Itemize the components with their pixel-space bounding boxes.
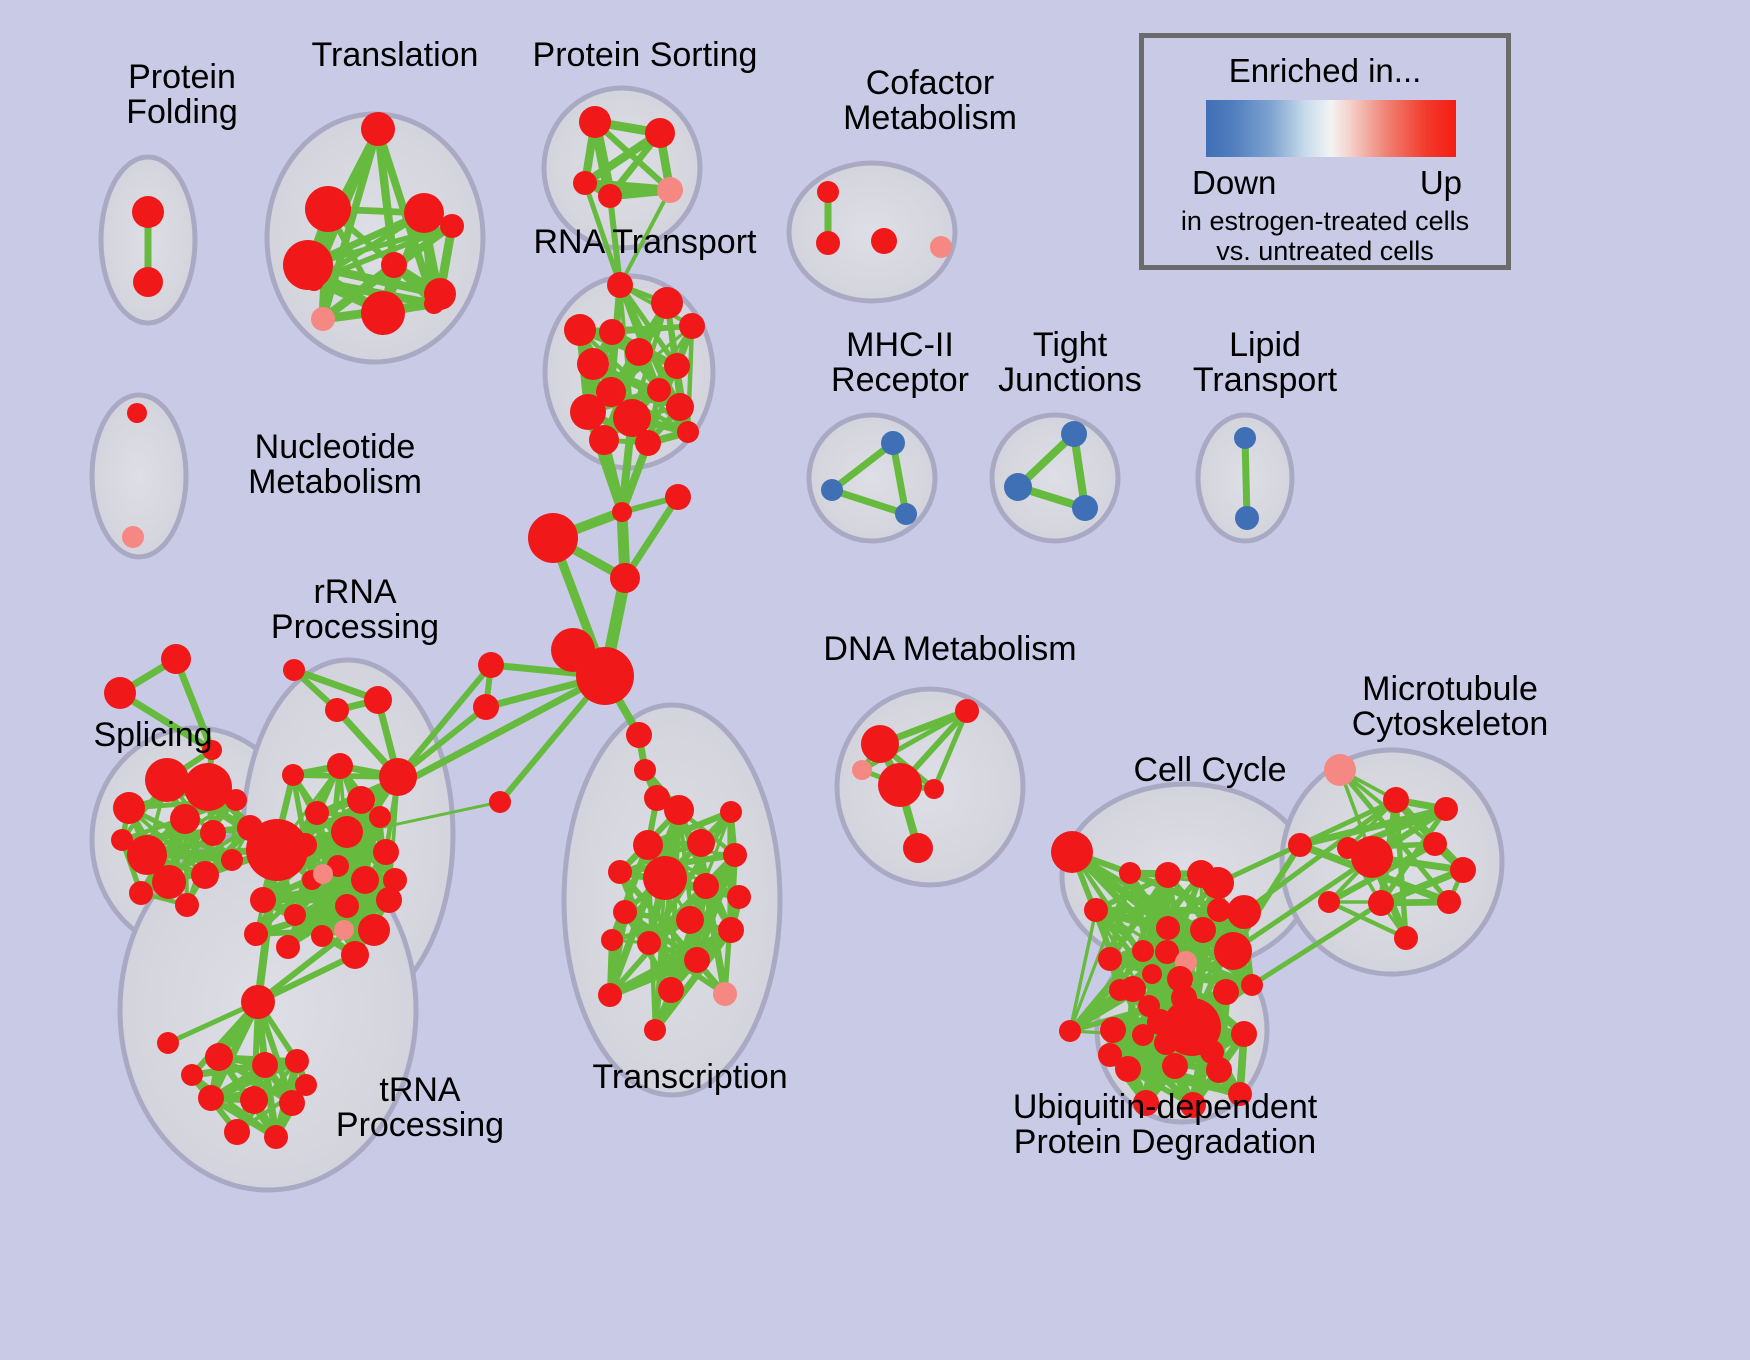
network-node — [608, 860, 632, 884]
network-node — [473, 694, 499, 720]
network-node — [1368, 890, 1394, 916]
network-node — [244, 922, 268, 946]
network-node — [1162, 1053, 1188, 1079]
network-node — [1156, 916, 1180, 940]
network-node — [129, 881, 153, 905]
network-node — [351, 866, 379, 894]
network-node — [225, 789, 247, 811]
network-node — [1100, 1017, 1126, 1043]
network-node — [200, 820, 226, 846]
network-node — [664, 795, 694, 825]
network-node — [1241, 974, 1263, 996]
hull-protein-sorting — [544, 88, 700, 248]
network-node — [1120, 976, 1146, 1002]
network-node — [723, 843, 747, 867]
network-node — [127, 403, 147, 423]
network-node — [1147, 1009, 1173, 1035]
network-node — [598, 184, 622, 208]
network-node — [347, 786, 375, 814]
network-node — [626, 722, 652, 748]
network-node — [379, 758, 417, 796]
network-node — [361, 112, 395, 146]
network-node — [1394, 926, 1418, 950]
network-node — [599, 319, 625, 345]
network-node — [331, 816, 363, 848]
network-node — [305, 801, 329, 825]
network-node — [478, 652, 504, 678]
network-node — [1383, 787, 1409, 813]
network-node — [1202, 867, 1234, 899]
network-node — [633, 830, 663, 860]
network-node — [1167, 966, 1193, 992]
network-node — [1133, 1090, 1159, 1116]
network-node — [1324, 754, 1356, 786]
network-node — [881, 431, 905, 455]
legend-down-label: Down — [1192, 164, 1276, 202]
network-node — [341, 941, 369, 969]
network-node — [157, 1032, 179, 1054]
network-node — [1437, 890, 1461, 914]
network-node — [821, 479, 843, 501]
network-node — [955, 699, 979, 723]
network-node — [1423, 832, 1447, 856]
network-node — [687, 829, 715, 857]
network-node — [1098, 1043, 1122, 1067]
network-node — [1234, 427, 1256, 449]
network-node — [1190, 917, 1216, 943]
network-node — [293, 833, 317, 857]
network-node — [145, 758, 189, 802]
network-node — [295, 1074, 317, 1096]
network-node — [718, 917, 744, 943]
network-node — [679, 313, 705, 339]
network-node — [276, 935, 300, 959]
network-node — [205, 1043, 233, 1071]
network-node — [664, 353, 690, 379]
network-node — [489, 791, 511, 813]
network-node — [861, 725, 899, 763]
legend-color-gradient — [1206, 100, 1456, 157]
network-node — [598, 983, 622, 1007]
network-node — [113, 792, 145, 824]
network-node — [264, 1125, 288, 1149]
network-node — [1227, 895, 1261, 929]
network-node — [133, 267, 163, 297]
legend-title: Enriched in... — [1144, 52, 1506, 90]
network-node — [1098, 947, 1122, 971]
network-node — [564, 314, 596, 346]
network-node — [1351, 836, 1393, 878]
network-node — [878, 763, 922, 807]
network-node — [202, 740, 222, 760]
network-node — [1213, 979, 1239, 1005]
network-node — [720, 801, 742, 823]
network-node — [1200, 1040, 1224, 1064]
network-node — [573, 171, 597, 195]
network-node — [1004, 473, 1032, 501]
network-node — [361, 291, 405, 335]
network-node — [576, 647, 634, 705]
network-node — [404, 193, 444, 233]
network-node — [1180, 1092, 1206, 1118]
network-node — [1235, 506, 1259, 530]
network-node — [304, 271, 324, 291]
network-node — [1059, 1020, 1081, 1042]
network-node — [252, 1052, 278, 1078]
network-node — [1194, 1017, 1220, 1043]
network-node — [240, 1086, 268, 1114]
network-node — [191, 861, 219, 889]
network-node — [369, 806, 391, 828]
network-node — [930, 236, 952, 258]
network-node — [666, 393, 694, 421]
network-node — [1288, 833, 1312, 857]
network-node — [528, 513, 578, 563]
network-node — [184, 763, 232, 811]
network-node — [817, 181, 839, 203]
network-node — [122, 526, 144, 548]
network-node — [1154, 1031, 1178, 1055]
network-node — [677, 421, 699, 443]
network-node — [634, 759, 656, 781]
network-node — [577, 348, 609, 380]
network-node — [327, 753, 353, 779]
network-node — [284, 904, 306, 926]
network-node — [1119, 862, 1141, 884]
network-node — [657, 177, 683, 203]
network-node — [1142, 964, 1162, 984]
network-node — [305, 186, 351, 232]
network-node — [285, 1049, 309, 1073]
network-node — [198, 1085, 224, 1111]
network-node — [335, 894, 359, 918]
network-node — [895, 503, 917, 525]
network-node — [651, 287, 683, 319]
network-node — [283, 659, 305, 681]
network-node — [1228, 1082, 1252, 1106]
network-node — [625, 338, 653, 366]
network-node — [383, 868, 407, 892]
network-node — [1450, 857, 1476, 883]
network-node — [311, 307, 335, 331]
network-node — [311, 925, 333, 947]
network-node — [1434, 797, 1458, 821]
hull-cofactor-metabolism — [789, 163, 955, 301]
network-node — [613, 900, 637, 924]
network-node — [903, 833, 933, 863]
network-node — [589, 425, 619, 455]
network-node — [250, 887, 276, 913]
network-node — [637, 931, 661, 955]
network-node — [1214, 932, 1252, 970]
network-node — [181, 1064, 203, 1086]
network-node — [221, 849, 243, 871]
network-node — [104, 677, 136, 709]
network-node — [161, 644, 191, 674]
network-node — [440, 214, 464, 238]
enrichment-map-figure: Protein FoldingTranslationProtein Sortin… — [0, 0, 1750, 1360]
network-node — [816, 231, 840, 255]
network-node — [647, 378, 671, 402]
legend-subtitle: in estrogen-treated cells vs. untreated … — [1144, 206, 1506, 266]
network-node — [424, 294, 444, 314]
network-node — [1318, 891, 1340, 913]
network-node — [852, 760, 872, 780]
network-node — [676, 906, 704, 934]
network-node — [607, 272, 633, 298]
network-node — [665, 484, 691, 510]
network-node — [693, 873, 719, 899]
network-node — [610, 563, 640, 593]
network-node — [1155, 862, 1181, 888]
network-node — [175, 893, 199, 917]
network-node — [334, 920, 354, 940]
network-edge — [1245, 438, 1247, 518]
network-node — [358, 914, 390, 946]
network-node — [170, 804, 200, 834]
network-node — [643, 856, 687, 900]
network-node — [713, 982, 737, 1006]
network-node — [132, 196, 164, 228]
network-node — [364, 686, 392, 714]
network-node — [1132, 940, 1154, 962]
network-node — [111, 829, 133, 851]
network-node — [1084, 898, 1108, 922]
network-node — [313, 864, 333, 884]
network-node — [373, 839, 399, 865]
network-node — [601, 929, 623, 951]
network-node — [579, 106, 611, 138]
legend-box: Enriched in... Down Up in estrogen-treat… — [1139, 33, 1511, 270]
network-node — [684, 947, 710, 973]
network-node — [635, 430, 661, 456]
network-node — [1061, 421, 1087, 447]
network-node — [1051, 831, 1093, 873]
network-node — [224, 1119, 250, 1145]
network-node — [612, 502, 632, 522]
network-node — [152, 865, 186, 899]
network-node — [570, 394, 606, 430]
legend-up-label: Up — [1420, 164, 1462, 202]
network-node — [381, 252, 407, 278]
network-node — [658, 977, 684, 1003]
network-node — [325, 698, 349, 722]
network-node — [871, 228, 897, 254]
network-node — [241, 985, 275, 1019]
network-node — [1072, 495, 1098, 521]
network-node — [644, 1019, 666, 1041]
hull-mhc-ii — [809, 415, 935, 541]
network-node — [282, 764, 304, 786]
network-node — [727, 885, 751, 909]
network-node — [1231, 1021, 1257, 1047]
network-node — [645, 118, 675, 148]
network-node — [924, 779, 944, 799]
